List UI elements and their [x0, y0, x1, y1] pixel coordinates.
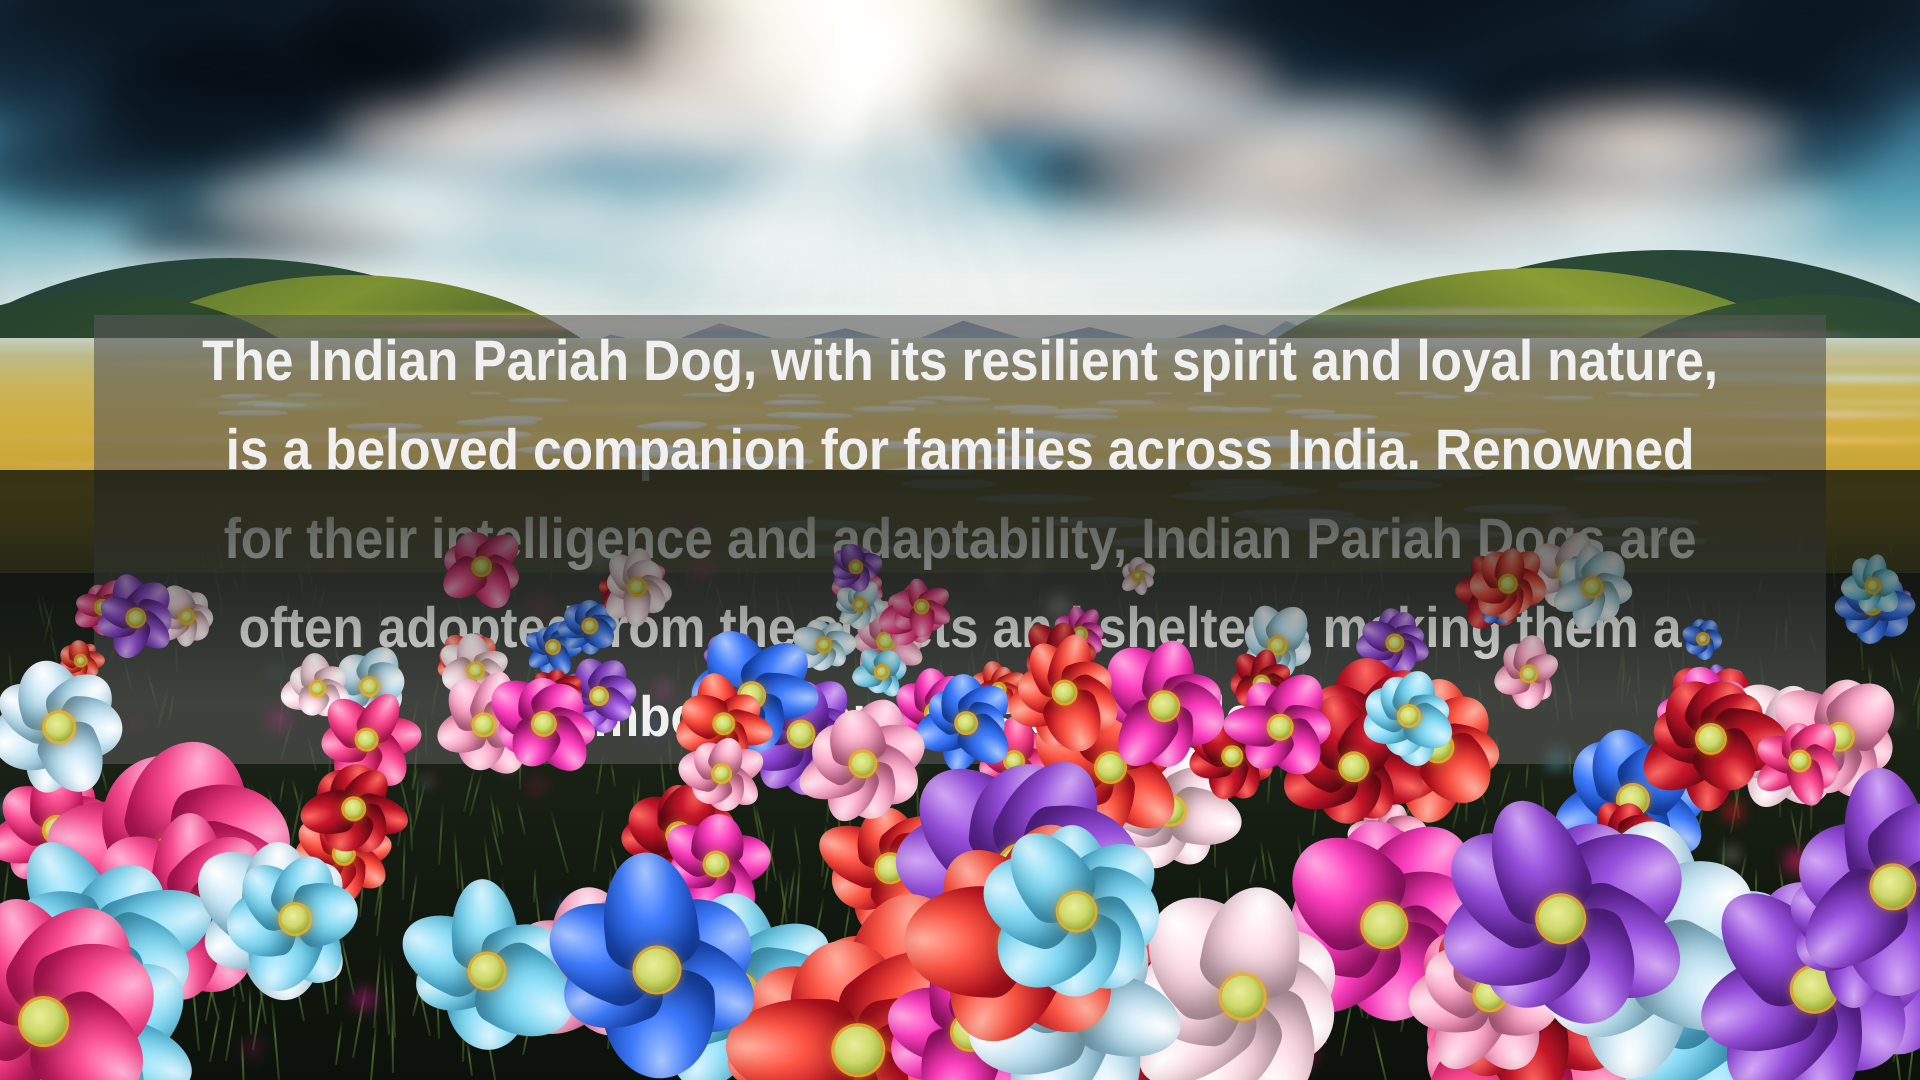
flower-center	[715, 715, 733, 733]
bokeh-dot	[425, 773, 437, 785]
flower	[0, 912, 153, 1080]
flower	[1683, 619, 1722, 658]
cloud-lit	[330, 95, 590, 175]
flower-center	[311, 682, 324, 695]
flower	[604, 554, 670, 620]
cloud-lit	[1500, 95, 1800, 185]
bokeh-dot	[527, 776, 547, 796]
bokeh-dot	[790, 890, 795, 895]
flower-center	[1270, 717, 1291, 738]
flower	[1231, 678, 1329, 776]
flower	[1473, 549, 1542, 618]
bokeh-dot	[353, 988, 376, 1011]
flower-center	[1058, 893, 1095, 930]
flower	[1120, 558, 1155, 593]
flower-center	[714, 766, 730, 782]
flower-center	[181, 611, 193, 623]
flower	[99, 581, 172, 654]
flower-center	[1538, 896, 1584, 942]
flower	[924, 681, 1008, 765]
flower	[554, 867, 759, 1072]
flower	[229, 853, 361, 985]
flower-center	[1363, 904, 1405, 946]
flower	[807, 708, 918, 819]
flower	[1452, 810, 1669, 1027]
flower-center	[344, 799, 364, 819]
flower-center	[1584, 579, 1600, 595]
flower	[989, 824, 1164, 999]
flower	[1015, 643, 1114, 742]
flower-center	[470, 954, 503, 987]
bokeh-dot	[87, 503, 93, 509]
flower	[1103, 645, 1225, 767]
flower	[896, 581, 947, 632]
flower-center	[45, 713, 73, 741]
flower-center	[916, 601, 927, 612]
flower-center	[474, 559, 490, 575]
flower-center	[1400, 707, 1418, 725]
flower-center	[21, 999, 67, 1045]
flower-center	[1698, 726, 1724, 752]
flower-center	[834, 1026, 882, 1074]
image-canvas: The Indian Pariah Dog, with its resilien…	[0, 0, 1920, 1080]
flower-center	[1221, 975, 1264, 1018]
flower	[833, 544, 878, 589]
flower	[408, 892, 565, 1049]
flower-center	[469, 664, 483, 678]
flower	[684, 736, 759, 811]
flower	[1649, 677, 1773, 801]
flower	[1497, 642, 1560, 705]
flower-center	[957, 714, 975, 732]
flower-center	[1054, 682, 1075, 703]
flower	[1794, 788, 1920, 985]
flower	[495, 675, 592, 772]
flower-center	[357, 730, 376, 749]
bokeh-dot	[242, 1038, 264, 1060]
flower	[1555, 550, 1629, 624]
flower	[1846, 559, 1900, 613]
flower-center	[281, 905, 309, 933]
flower	[307, 762, 400, 855]
flower-center	[819, 640, 830, 651]
flower	[1366, 673, 1452, 759]
flower-center	[630, 580, 644, 594]
flower-center	[1270, 638, 1285, 653]
flower-center	[362, 679, 378, 695]
flower-center	[635, 948, 678, 991]
flower-center	[1151, 693, 1177, 719]
flower-center	[592, 689, 606, 703]
flower	[444, 529, 519, 604]
